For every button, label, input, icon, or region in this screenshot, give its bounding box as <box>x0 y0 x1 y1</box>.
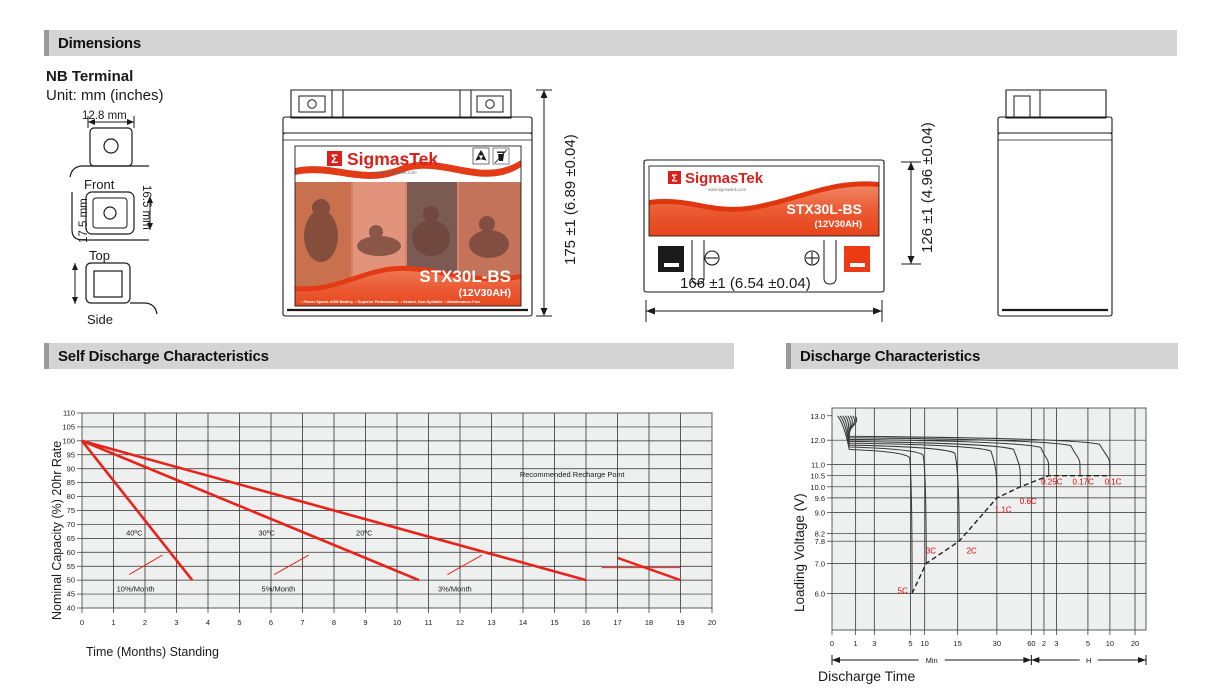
discharge-chart: 013510153060235102013.012.011.010.510.09… <box>806 398 1178 666</box>
svg-text:0.6C: 0.6C <box>1020 497 1037 506</box>
svg-text:www.sigmastek.com: www.sigmastek.com <box>708 187 746 192</box>
section-title: Self Discharge Characteristics <box>49 348 269 365</box>
svg-text:60: 60 <box>67 548 75 557</box>
svg-text:85: 85 <box>67 478 75 487</box>
svg-text:5: 5 <box>1086 639 1090 648</box>
svg-text:10.5: 10.5 <box>810 472 825 481</box>
svg-text:90: 90 <box>67 464 75 473</box>
svg-text:13: 13 <box>487 618 495 627</box>
section-header-discharge: Discharge Characteristics <box>786 343 1178 369</box>
svg-text:3: 3 <box>872 639 876 648</box>
svg-text:9: 9 <box>363 618 367 627</box>
svg-text:100: 100 <box>62 436 75 445</box>
section-title: Discharge Characteristics <box>791 348 980 365</box>
svg-text:75: 75 <box>67 506 75 515</box>
section-header-self-discharge: Self Discharge Characteristics <box>44 343 734 369</box>
positive-terminal-icon <box>805 251 819 265</box>
self-discharge-xlabel: Time (Months) Standing <box>86 645 219 659</box>
svg-text:10: 10 <box>393 618 401 627</box>
battery-front-view: Σ SigmasTek www.sigmastek.com STX30L-BS … <box>275 86 540 323</box>
svg-text:3C: 3C <box>926 547 936 556</box>
svg-text:20: 20 <box>708 618 716 627</box>
terminal-view-top: Top <box>89 248 110 263</box>
svg-text:6.0: 6.0 <box>815 589 825 598</box>
battery-spec: (12V30AH) <box>458 287 511 299</box>
svg-text:0: 0 <box>80 618 84 627</box>
svg-text:3: 3 <box>174 618 178 627</box>
svg-text:40ºC: 40ºC <box>126 529 143 538</box>
svg-text:7: 7 <box>300 618 304 627</box>
svg-text:1.1C: 1.1C <box>995 505 1012 514</box>
section-title: Dimensions <box>49 35 141 52</box>
svg-text:10.0: 10.0 <box>810 483 825 492</box>
svg-text:3%/Month: 3%/Month <box>438 584 472 593</box>
dimension-height-label: 175 ±1 (6.89 ±0.04) <box>562 134 579 265</box>
dimension-width <box>895 158 921 270</box>
svg-text:10: 10 <box>920 639 928 648</box>
svg-text:9.6: 9.6 <box>815 494 825 503</box>
svg-text:105: 105 <box>62 423 75 432</box>
dimension-length <box>640 300 888 322</box>
svg-text:Σ: Σ <box>331 152 338 166</box>
brand-website: www.sigmastek.com <box>375 170 417 175</box>
svg-text:7.8: 7.8 <box>815 537 825 546</box>
svg-text:4: 4 <box>206 618 210 627</box>
svg-text:60: 60 <box>1027 639 1035 648</box>
dimension-width-label: 126 ±1 (4.96 ±0.04) <box>919 122 936 253</box>
svg-text:13.0: 13.0 <box>810 412 825 421</box>
svg-text:3: 3 <box>1054 639 1058 648</box>
svg-text:45: 45 <box>67 590 75 599</box>
svg-text:H: H <box>1086 656 1091 665</box>
svg-text:0.25C: 0.25C <box>1041 478 1063 487</box>
svg-text:50: 50 <box>67 576 75 585</box>
svg-text:11: 11 <box>425 618 433 627</box>
svg-text:5%/Month: 5%/Month <box>262 584 296 593</box>
svg-text:5: 5 <box>237 618 241 627</box>
svg-text:2: 2 <box>143 618 147 627</box>
svg-text:STX30L-BS: STX30L-BS <box>787 201 862 217</box>
svg-text:19: 19 <box>676 618 684 627</box>
svg-text:17: 17 <box>613 618 621 627</box>
battery-model: STX30L-BS <box>419 267 511 286</box>
svg-text:40: 40 <box>67 604 75 613</box>
svg-text:Min: Min <box>926 656 938 665</box>
svg-text:8: 8 <box>332 618 336 627</box>
svg-text:15: 15 <box>953 639 961 648</box>
svg-text:0.17C: 0.17C <box>1073 478 1095 487</box>
svg-text:(12V30AH): (12V30AH) <box>814 219 862 230</box>
svg-text:20: 20 <box>1131 639 1139 648</box>
svg-text:7.0: 7.0 <box>815 559 825 568</box>
svg-text:9.0: 9.0 <box>815 508 825 517</box>
svg-text:0: 0 <box>830 639 834 648</box>
discharge-xlabel: Discharge Time <box>818 668 915 684</box>
svg-text:18: 18 <box>645 618 653 627</box>
svg-text:6: 6 <box>269 618 273 627</box>
nb-terminal-title: NB Terminal <box>46 68 133 85</box>
svg-text:SigmasTek: SigmasTek <box>685 170 764 187</box>
battery-features: • Power Sports AGM Battery • Superior Pe… <box>301 299 481 304</box>
svg-text:10: 10 <box>1106 639 1114 648</box>
terminal-height-label: 16.5 mm <box>140 185 152 230</box>
unit-label: Unit: mm (inches) <box>46 87 164 104</box>
svg-text:2C: 2C <box>967 547 977 556</box>
battery-rear-view <box>990 86 1120 323</box>
section-header-dimensions: Dimensions <box>44 30 1177 56</box>
negative-terminal-icon <box>705 251 719 265</box>
svg-text:12: 12 <box>456 618 464 627</box>
svg-text:20ºC: 20ºC <box>356 529 373 538</box>
svg-text:0.1C: 0.1C <box>1105 478 1122 487</box>
brand-name: SigmasTek <box>347 149 438 169</box>
self-discharge-chart: 0123456789101112131415161718192040455055… <box>60 405 732 640</box>
svg-text:30ºC: 30ºC <box>258 529 275 538</box>
terminal-view-side: Side <box>87 312 113 327</box>
svg-text:1: 1 <box>853 639 857 648</box>
svg-text:95: 95 <box>67 450 75 459</box>
svg-text:1: 1 <box>111 618 115 627</box>
svg-text:2: 2 <box>1042 639 1046 648</box>
svg-text:5: 5 <box>908 639 912 648</box>
svg-text:Recommended Recharge Point: Recommended Recharge Point <box>520 470 626 479</box>
discharge-ylabel: Loading Voltage (V) <box>792 493 807 612</box>
svg-text:110: 110 <box>63 409 75 418</box>
svg-text:14: 14 <box>519 618 527 627</box>
svg-text:55: 55 <box>67 562 75 571</box>
svg-text:10%/Month: 10%/Month <box>117 584 155 593</box>
svg-text:65: 65 <box>67 534 75 543</box>
terminal-depth-label: 17.5 mm <box>78 198 90 243</box>
dimension-height <box>536 86 564 323</box>
svg-text:16: 16 <box>582 618 590 627</box>
svg-text:Σ: Σ <box>672 174 678 185</box>
terminal-width-label: 12.8 mm <box>82 110 127 122</box>
svg-text:15: 15 <box>550 618 558 627</box>
terminal-view-front: Front <box>84 177 114 192</box>
svg-text:30: 30 <box>993 639 1001 648</box>
svg-text:80: 80 <box>67 492 75 501</box>
svg-text:11.0: 11.0 <box>811 461 825 470</box>
svg-text:5C: 5C <box>898 586 908 595</box>
svg-text:12.0: 12.0 <box>810 436 825 445</box>
dimension-length-label: 166 ±1 (6.54 ±0.04) <box>680 275 811 292</box>
svg-text:70: 70 <box>67 520 75 529</box>
